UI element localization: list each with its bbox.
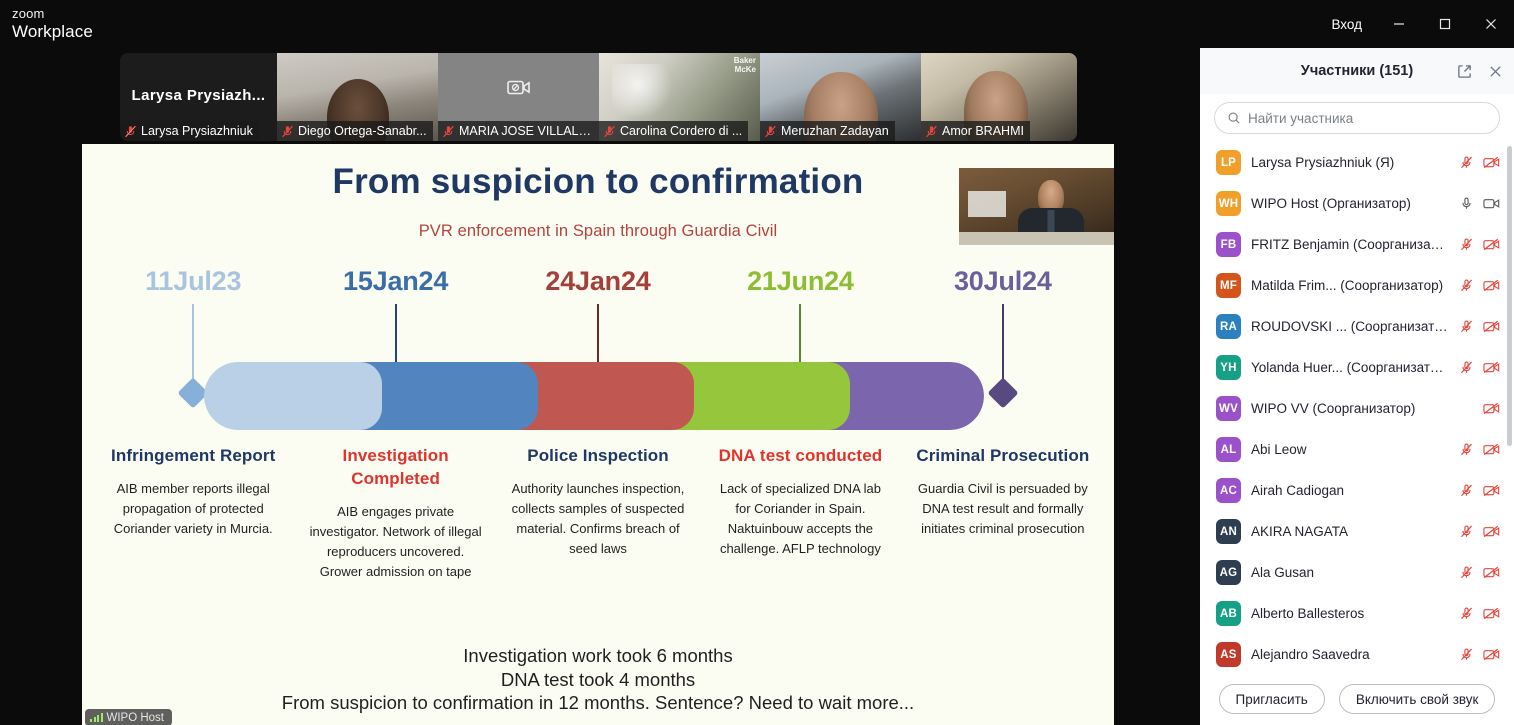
avatar: AL: [1216, 437, 1241, 462]
timeline-steps: Infringement Report AIB member reports i…: [92, 444, 1104, 582]
unmute-button[interactable]: Включить свой звук: [1339, 684, 1496, 714]
step-title: Police Inspection: [509, 444, 687, 467]
participant-status-icons: [1459, 442, 1500, 457]
participant-name: Alberto Ballesteros: [1251, 606, 1449, 621]
speaker-photo: [959, 168, 1114, 245]
avatar: AB: [1216, 601, 1241, 626]
participant-status-icons: [1459, 278, 1500, 293]
video-tile[interactable]: BakerMcKe Carolina Cordero di ...: [599, 53, 760, 141]
step-body: Authority launches inspection, collects …: [509, 479, 687, 559]
title-bar: zoom Workplace Вход: [0, 0, 1514, 48]
step-body: AIB member reports illegal propagation o…: [104, 479, 282, 539]
participant-row[interactable]: LPLarysa Prysiazhniuk (Я): [1200, 142, 1514, 183]
window-controls: Вход: [1317, 0, 1514, 48]
avatar: WH: [1216, 191, 1241, 216]
timeline-dates: 11Jul23 15Jan24 24Jan24 21Jun24 30Jul24: [92, 266, 1104, 297]
participant-status-icons: [1459, 237, 1500, 252]
camera-off-icon[interactable]: [1483, 647, 1500, 662]
invite-button[interactable]: Пригласить: [1219, 684, 1325, 714]
participant-status-icons: [1459, 360, 1500, 375]
avatar: LP: [1216, 150, 1241, 175]
step-body: AIB engages private investigator. Networ…: [306, 502, 484, 582]
timeline-bar: [204, 362, 984, 430]
tile-name-label: Larysa Prysiazhniuk: [141, 124, 253, 138]
tile-name-bar: Diego Ortega-Sanabr...: [277, 121, 433, 141]
mic-off-icon[interactable]: [1459, 524, 1474, 539]
tile-name-bar: Meruzhan Zadayan: [760, 121, 895, 141]
participant-status-icons: [1459, 524, 1500, 539]
mic-off-icon: [442, 125, 455, 138]
timeline-step: Criminal Prosecution Guardia Civil is pe…: [902, 444, 1104, 582]
participants-panel-header: Участники (151): [1200, 48, 1514, 94]
avatar: WV: [1216, 396, 1241, 421]
participant-status-icons: [1459, 606, 1500, 621]
camera-off-icon[interactable]: [1483, 442, 1500, 457]
participants-scrollbar[interactable]: [1507, 146, 1512, 446]
mic-off-icon[interactable]: [1459, 647, 1474, 662]
brand-zoom-text: zoom: [12, 7, 93, 20]
signal-bars-icon: [90, 713, 103, 722]
tile-name-label: Diego Ortega-Sanabr...: [298, 124, 427, 138]
slide-footer: Investigation work took 6 months DNA tes…: [82, 644, 1114, 715]
participant-status-icons: [1459, 647, 1500, 662]
participant-name: Ala Gusan: [1251, 565, 1449, 580]
camera-off-icon: [507, 77, 531, 102]
camera-off-icon[interactable]: [1483, 155, 1500, 170]
camera-off-icon[interactable]: [1483, 524, 1500, 539]
mic-off-icon: [281, 125, 294, 138]
camera-off-icon[interactable]: [1483, 319, 1500, 334]
timeline-step: Investigation Completed AIB engages priv…: [294, 444, 496, 582]
video-watermark: BakerMcKe: [734, 56, 756, 74]
camera-off-icon[interactable]: [1483, 278, 1500, 293]
zoom-meeting-window: zoom Workplace Вход Larysa Prysiazh...: [0, 0, 1514, 725]
video-tile[interactable]: Amor BRAHMI: [921, 53, 1077, 141]
step-body: Lack of specialized DNA lab for Coriande…: [711, 479, 889, 559]
sign-in-button[interactable]: Вход: [1317, 11, 1376, 38]
step-title: Investigation Completed: [306, 444, 484, 490]
timeline-band: [828, 362, 984, 430]
participant-row[interactable]: ACAirah Cadiogan: [1200, 470, 1514, 511]
avatar: FB: [1216, 232, 1241, 257]
timeline-band: [204, 362, 360, 430]
mic-off-icon: [925, 125, 938, 138]
avatar: MF: [1216, 273, 1241, 298]
step-title: DNA test conducted: [711, 444, 889, 467]
step-body: Guardia Civil is persuaded by DNA test r…: [914, 479, 1092, 539]
self-view-name: Larysa Prysiazh...: [120, 87, 277, 104]
mic-off-icon[interactable]: [1459, 319, 1474, 334]
tile-name-bar: Amor BRAHMI: [921, 121, 1030, 141]
participant-row[interactable]: RAROUDOVSKI ... (Соорганизатор): [1200, 306, 1514, 347]
footer-line: DNA test took 4 months: [82, 668, 1114, 692]
minimize-icon[interactable]: [1376, 0, 1422, 48]
mic-off-icon: [603, 125, 616, 138]
search-icon: [1227, 111, 1241, 125]
participant-name: Abi Leow: [1251, 442, 1449, 457]
participant-row[interactable]: FBFRITZ Benjamin (Соорганизатор): [1200, 224, 1514, 265]
participant-row[interactable]: WVWIPO VV (Соорганизатор): [1200, 388, 1514, 429]
timeline-step: DNA test conducted Lack of specialized D…: [699, 444, 901, 582]
tile-name-bar: Larysa Prysiazhniuk: [120, 121, 259, 141]
participant-name: FRITZ Benjamin (Соорганизатор): [1251, 237, 1449, 252]
participant-row[interactable]: ASAlejandro Saavedra: [1200, 634, 1514, 673]
avatar: AN: [1216, 519, 1241, 544]
timeline-band: [672, 362, 828, 430]
camera-off-icon[interactable]: [1483, 360, 1500, 375]
participant-status-icons: [1459, 483, 1500, 498]
timeline-date: 30Jul24: [902, 266, 1104, 297]
timeline-step: Police Inspection Authority launches ins…: [497, 444, 699, 582]
active-sharer-label: WIPO Host: [107, 712, 165, 724]
mic-on-icon[interactable]: [1459, 196, 1474, 211]
timeline-marker: [987, 377, 1018, 408]
video-tile[interactable]: Larysa Prysiazh... Larysa Prysiazhniuk: [120, 53, 277, 141]
step-title: Criminal Prosecution: [914, 444, 1092, 467]
participant-row[interactable]: WHWIPO Host (Организатор): [1200, 183, 1514, 224]
mic-off-icon: [764, 125, 777, 138]
participants-title: Участники (151): [1301, 63, 1413, 79]
tile-name-label: Meruzhan Zadayan: [781, 124, 889, 138]
timeline-step: Infringement Report AIB member reports i…: [92, 444, 294, 582]
participant-status-icons: [1459, 401, 1500, 416]
camera-off-icon[interactable]: [1483, 483, 1500, 498]
mic-off-icon[interactable]: [1459, 606, 1474, 621]
participant-name: Alejandro Saavedra: [1251, 647, 1449, 662]
participant-row[interactable]: YHYolanda Huer... (Соорганизатор): [1200, 347, 1514, 388]
participant-row[interactable]: ALAbi Leow: [1200, 429, 1514, 470]
mic-off-icon[interactable]: [1459, 237, 1474, 252]
video-thumbnail-strip: Larysa Prysiazh... Larysa Prysiazhniuk: [120, 53, 1077, 141]
tile-name-label: Carolina Cordero di ...: [620, 124, 742, 138]
zoom-workplace-logo: zoom Workplace: [12, 7, 93, 40]
tile-name-bar: MARIA JOSE VILLALO...: [438, 121, 599, 141]
camera-off-icon[interactable]: [1483, 606, 1500, 621]
mic-off-icon: [124, 125, 137, 138]
participant-row[interactable]: ABAlberto Ballesteros: [1200, 593, 1514, 634]
avatar: RA: [1216, 314, 1241, 339]
participant-status-icons: [1459, 565, 1500, 580]
brand-workplace-text: Workplace: [12, 23, 93, 40]
timeline-date: 15Jan24: [294, 266, 496, 297]
participant-name: WIPO VV (Соорганизатор): [1251, 401, 1449, 416]
participant-row[interactable]: AGAla Gusan: [1200, 552, 1514, 593]
popout-icon[interactable]: [1454, 61, 1475, 82]
active-sharer-badge: WIPO Host: [85, 709, 172, 725]
participant-status-icons: [1459, 196, 1500, 211]
tile-name-label: Amor BRAHMI: [942, 124, 1024, 138]
tile-name-bar: Carolina Cordero di ...: [599, 121, 748, 141]
search-box[interactable]: [1214, 102, 1500, 134]
camera-on-icon[interactable]: [1483, 196, 1500, 211]
mic-off-icon[interactable]: [1459, 483, 1474, 498]
participants-panel: Участники (151): [1200, 48, 1514, 725]
search-input[interactable]: [1248, 111, 1487, 126]
timeline-band: [516, 362, 672, 430]
participant-name: Airah Cadiogan: [1251, 483, 1449, 498]
participant-name: AKIRA NAGATA: [1251, 524, 1449, 539]
participants-list[interactable]: LPLarysa Prysiazhniuk (Я) WHWIPO Host (О…: [1200, 140, 1514, 673]
participant-status-icons: [1459, 155, 1500, 170]
participant-name: Yolanda Huer... (Соорганизатор): [1251, 360, 1449, 375]
camera-off-icon[interactable]: [1483, 565, 1500, 580]
avatar: AC: [1216, 478, 1241, 503]
timeline-band: [360, 362, 516, 430]
camera-off-icon[interactable]: [1483, 401, 1500, 416]
maximize-icon[interactable]: [1422, 0, 1468, 48]
participant-name: Larysa Prysiazhniuk (Я): [1251, 155, 1449, 170]
participant-name: ROUDOVSKI ... (Соорганизатор): [1251, 319, 1449, 334]
shared-screen-stage: From suspicion to confirmation PVR enfor…: [0, 141, 1200, 725]
mic-off-icon[interactable]: [1459, 278, 1474, 293]
participant-status-icons: [1459, 319, 1500, 334]
mic-off-icon[interactable]: [1459, 442, 1474, 457]
participant-row[interactable]: ANAKIRA NAGATA: [1200, 511, 1514, 552]
participant-name: Matilda Frim... (Соорганизатор): [1251, 278, 1449, 293]
footer-line: From suspicion to confirmation in 12 mon…: [82, 691, 1114, 715]
participant-name: WIPO Host (Организатор): [1251, 196, 1449, 211]
close-icon[interactable]: [1468, 0, 1514, 48]
mic-off-icon[interactable]: [1459, 155, 1474, 170]
participants-footer: Пригласить Включить свой звук: [1200, 673, 1514, 725]
shared-slide: From suspicion to confirmation PVR enfor…: [82, 144, 1114, 725]
timeline-date: 24Jan24: [497, 266, 699, 297]
tile-name-label: MARIA JOSE VILLALO...: [459, 124, 593, 138]
video-tile[interactable]: Diego Ortega-Sanabr...: [277, 53, 438, 141]
avatar: AG: [1216, 560, 1241, 585]
participant-row[interactable]: MFMatilda Frim... (Соорганизатор): [1200, 265, 1514, 306]
participants-search-area: [1200, 94, 1514, 140]
video-tile[interactable]: MARIA JOSE VILLALO...: [438, 53, 599, 141]
footer-line: Investigation work took 6 months: [82, 644, 1114, 668]
timeline-date: 11Jul23: [92, 266, 294, 297]
mic-off-icon[interactable]: [1459, 565, 1474, 580]
avatar: AS: [1216, 642, 1241, 667]
avatar: YH: [1216, 355, 1241, 380]
close-icon[interactable]: [1485, 61, 1506, 82]
camera-off-icon[interactable]: [1483, 237, 1500, 252]
timeline-date: 21Jun24: [699, 266, 901, 297]
mic-off-icon[interactable]: [1459, 360, 1474, 375]
step-title: Infringement Report: [104, 444, 282, 467]
video-tile[interactable]: Meruzhan Zadayan: [760, 53, 921, 141]
